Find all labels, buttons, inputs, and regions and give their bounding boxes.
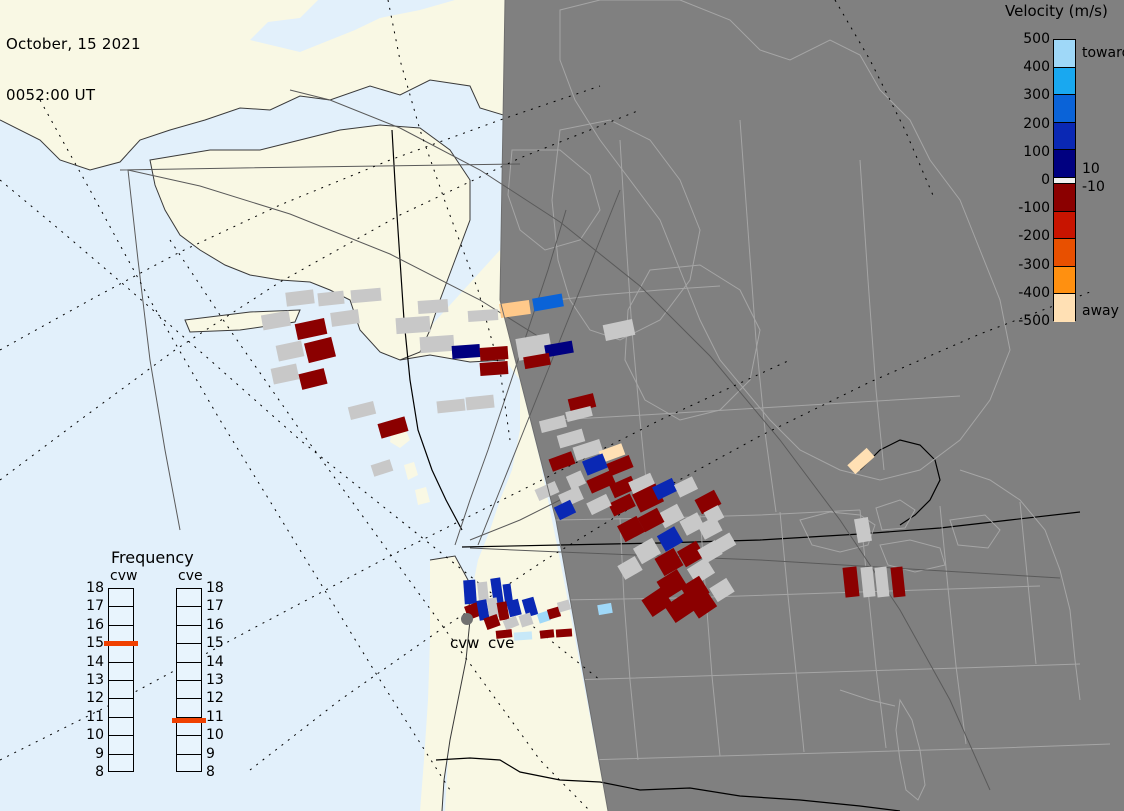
frequency-bar-cvw [108, 588, 134, 772]
colorbar-segment [1054, 212, 1075, 240]
frequency-bar-cell [109, 736, 133, 754]
colorbar-tick: -200 [1018, 229, 1050, 243]
frequency-bar-cell [177, 607, 201, 625]
frequency-bar-cell [109, 699, 133, 717]
frequency-tick-left: 15 [86, 636, 104, 650]
frequency-bar-cell [109, 681, 133, 699]
frequency-tick-left: 13 [86, 673, 104, 687]
velocity-colorbar [1053, 39, 1076, 321]
frequency-tick-right: 12 [206, 691, 224, 705]
frequency-bar-cell [177, 755, 201, 773]
velocity-cell [468, 309, 499, 322]
frequency-bar-cell [177, 644, 201, 662]
colorbar-segment [1054, 150, 1075, 178]
frequency-legend: Frequency cvw cve 18171615141312111098 1… [86, 548, 246, 786]
frequency-tick-left: 18 [86, 581, 104, 595]
colorbar-toward-label: toward [1082, 45, 1124, 61]
colorbar-tick: 200 [1023, 117, 1050, 131]
frequency-tick-right: 18 [206, 581, 224, 595]
frequency-tick-left: 8 [86, 765, 104, 779]
velocity-cell [540, 629, 555, 638]
frequency-tick-right: 8 [206, 765, 215, 779]
frequency-column-title-cvw: cvw [110, 568, 137, 584]
frequency-bar-cell [177, 626, 201, 644]
colorbar-segment [1054, 267, 1075, 295]
frequency-marker-cve [172, 718, 206, 723]
velocity-cell [480, 346, 509, 361]
frequency-tick-right: 16 [206, 618, 224, 632]
title-date: October, 15 2021 [6, 36, 141, 53]
colorbar-segment [1054, 184, 1075, 212]
frequency-marker-cvw [104, 641, 138, 646]
frequency-tick-right: 13 [206, 673, 224, 687]
frequency-tick-left: 16 [86, 618, 104, 632]
velocity-cell [418, 299, 449, 314]
frequency-legend-title: Frequency [111, 548, 194, 567]
velocity-cell [514, 631, 533, 640]
frequency-tick-right: 10 [206, 728, 224, 742]
frequency-tick-right: 17 [206, 599, 224, 613]
colorbar-tick: -400 [1018, 286, 1050, 300]
colorbar-segment [1054, 123, 1075, 151]
frequency-tick-right: 11 [206, 710, 224, 724]
title-time: 0052:00 UT [6, 87, 141, 104]
colorbar-tick: -500 [1018, 314, 1050, 328]
frequency-bar-cell [109, 589, 133, 607]
site-label-cve: cve [488, 634, 514, 652]
frequency-bar-cell [109, 607, 133, 625]
colorbar-segment [1054, 239, 1075, 267]
colorbar-segment [1054, 95, 1075, 123]
frequency-bar-cell [177, 699, 201, 717]
site-label-cvw: cvw [450, 634, 479, 652]
frequency-tick-right: 14 [206, 655, 224, 669]
velocity-cell [480, 361, 509, 376]
colorbar-tick-labels: 5004003002001000-100-200-300-400-500 [996, 30, 1050, 330]
velocity-cell [463, 580, 477, 605]
colorbar-tick: -300 [1018, 258, 1050, 272]
frequency-bar-cell [109, 718, 133, 736]
frequency-tick-left: 10 [86, 728, 104, 742]
radar-site-marker [461, 613, 473, 625]
frequency-bar-cell [109, 663, 133, 681]
colorbar-tick: 400 [1023, 60, 1050, 74]
colorbar-tick: 0 [1041, 173, 1050, 187]
colorbar-tick: 500 [1023, 32, 1050, 46]
frequency-bar-cell [109, 755, 133, 773]
velocity-cell [452, 344, 481, 359]
frequency-tick-left: 12 [86, 691, 104, 705]
colorbar-segment [1054, 294, 1075, 322]
frequency-bar-cell [177, 736, 201, 754]
frequency-column-title-cve: cve [178, 568, 203, 584]
colorbar-title: Velocity (m/s) [1005, 2, 1108, 20]
frequency-bar-cell [109, 644, 133, 662]
superdarn-velocity-map: October, 15 2021 0052:00 UT Velocity (m/… [0, 0, 1124, 811]
frequency-bar-cell [177, 681, 201, 699]
velocity-cell [350, 288, 381, 304]
velocity-cell [395, 316, 430, 334]
colorbar-segment [1054, 40, 1075, 68]
colorbar-positive-threshold: 10 [1082, 161, 1100, 177]
velocity-cell [556, 628, 573, 637]
colorbar-away-label: away [1082, 303, 1119, 319]
frequency-tick-left: 11 [86, 710, 104, 724]
velocity-cell [317, 291, 344, 307]
frequency-tick-left: 14 [86, 655, 104, 669]
colorbar-segment [1054, 68, 1075, 96]
colorbar-tick: 100 [1023, 145, 1050, 159]
velocity-cell [419, 335, 454, 353]
colorbar-tick: 300 [1023, 88, 1050, 102]
frequency-bar-cve [176, 588, 202, 772]
frequency-bar-cell [177, 663, 201, 681]
frequency-bar-cell [177, 589, 201, 607]
colorbar-tick: -100 [1018, 201, 1050, 215]
frequency-tick-right: 15 [206, 636, 224, 650]
frequency-tick-right: 9 [206, 747, 215, 761]
frequency-tick-left: 17 [86, 599, 104, 613]
timestamp-title: October, 15 2021 0052:00 UT [6, 2, 141, 138]
colorbar-negative-threshold: -10 [1082, 179, 1105, 195]
frequency-tick-left: 9 [86, 747, 104, 761]
